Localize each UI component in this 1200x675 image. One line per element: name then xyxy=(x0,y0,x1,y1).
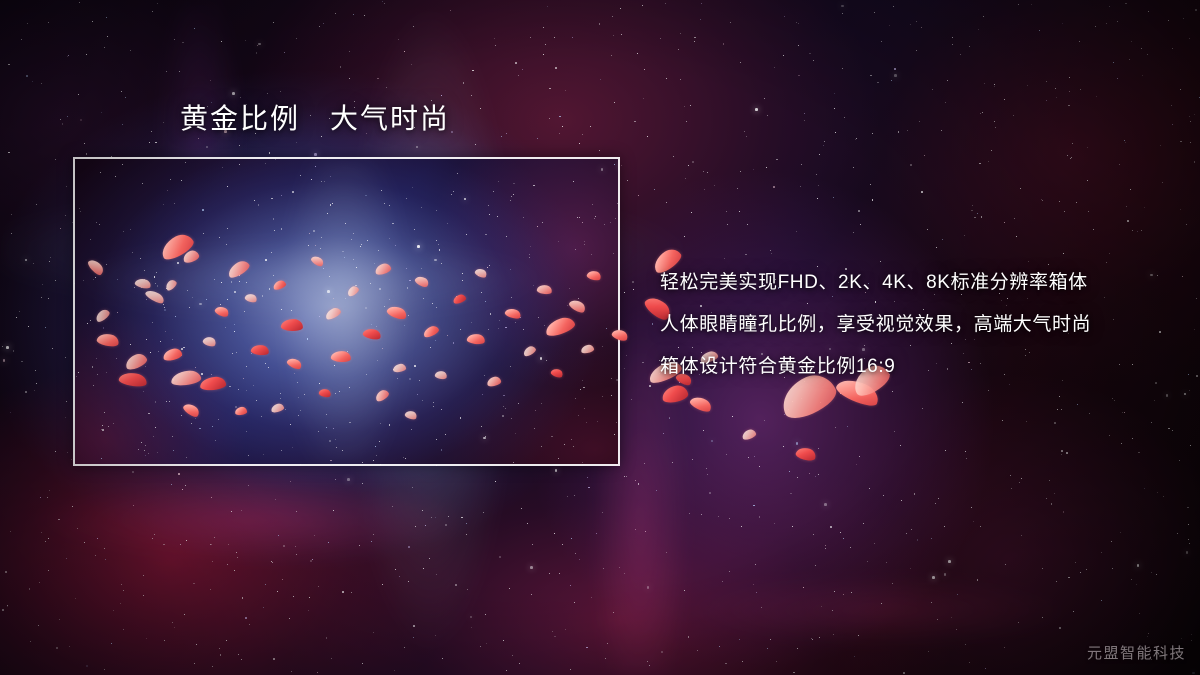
body-copy: 轻松完美实现FHD、2K、4K、8K标准分辨率箱体 人体眼睛瞳孔比例，享受视觉效… xyxy=(660,262,1180,388)
page-title: 黄金比例 大气时尚 xyxy=(180,102,450,136)
body-line-1: 轻松完美实现FHD、2K、4K、8K标准分辨率箱体 xyxy=(660,262,1180,304)
presentation-slide: 黄金比例 大气时尚 轻松完美实现FHD、2K、4K、8K标准分辨率箱体 人体眼睛… xyxy=(0,0,1200,675)
watermark: 元盟智能科技 xyxy=(1087,642,1186,663)
body-line-3: 箱体设计符合黄金比例16:9 xyxy=(660,346,1180,388)
body-line-2: 人体眼睛瞳孔比例，享受视觉效果，高端大气时尚 xyxy=(660,304,1180,346)
